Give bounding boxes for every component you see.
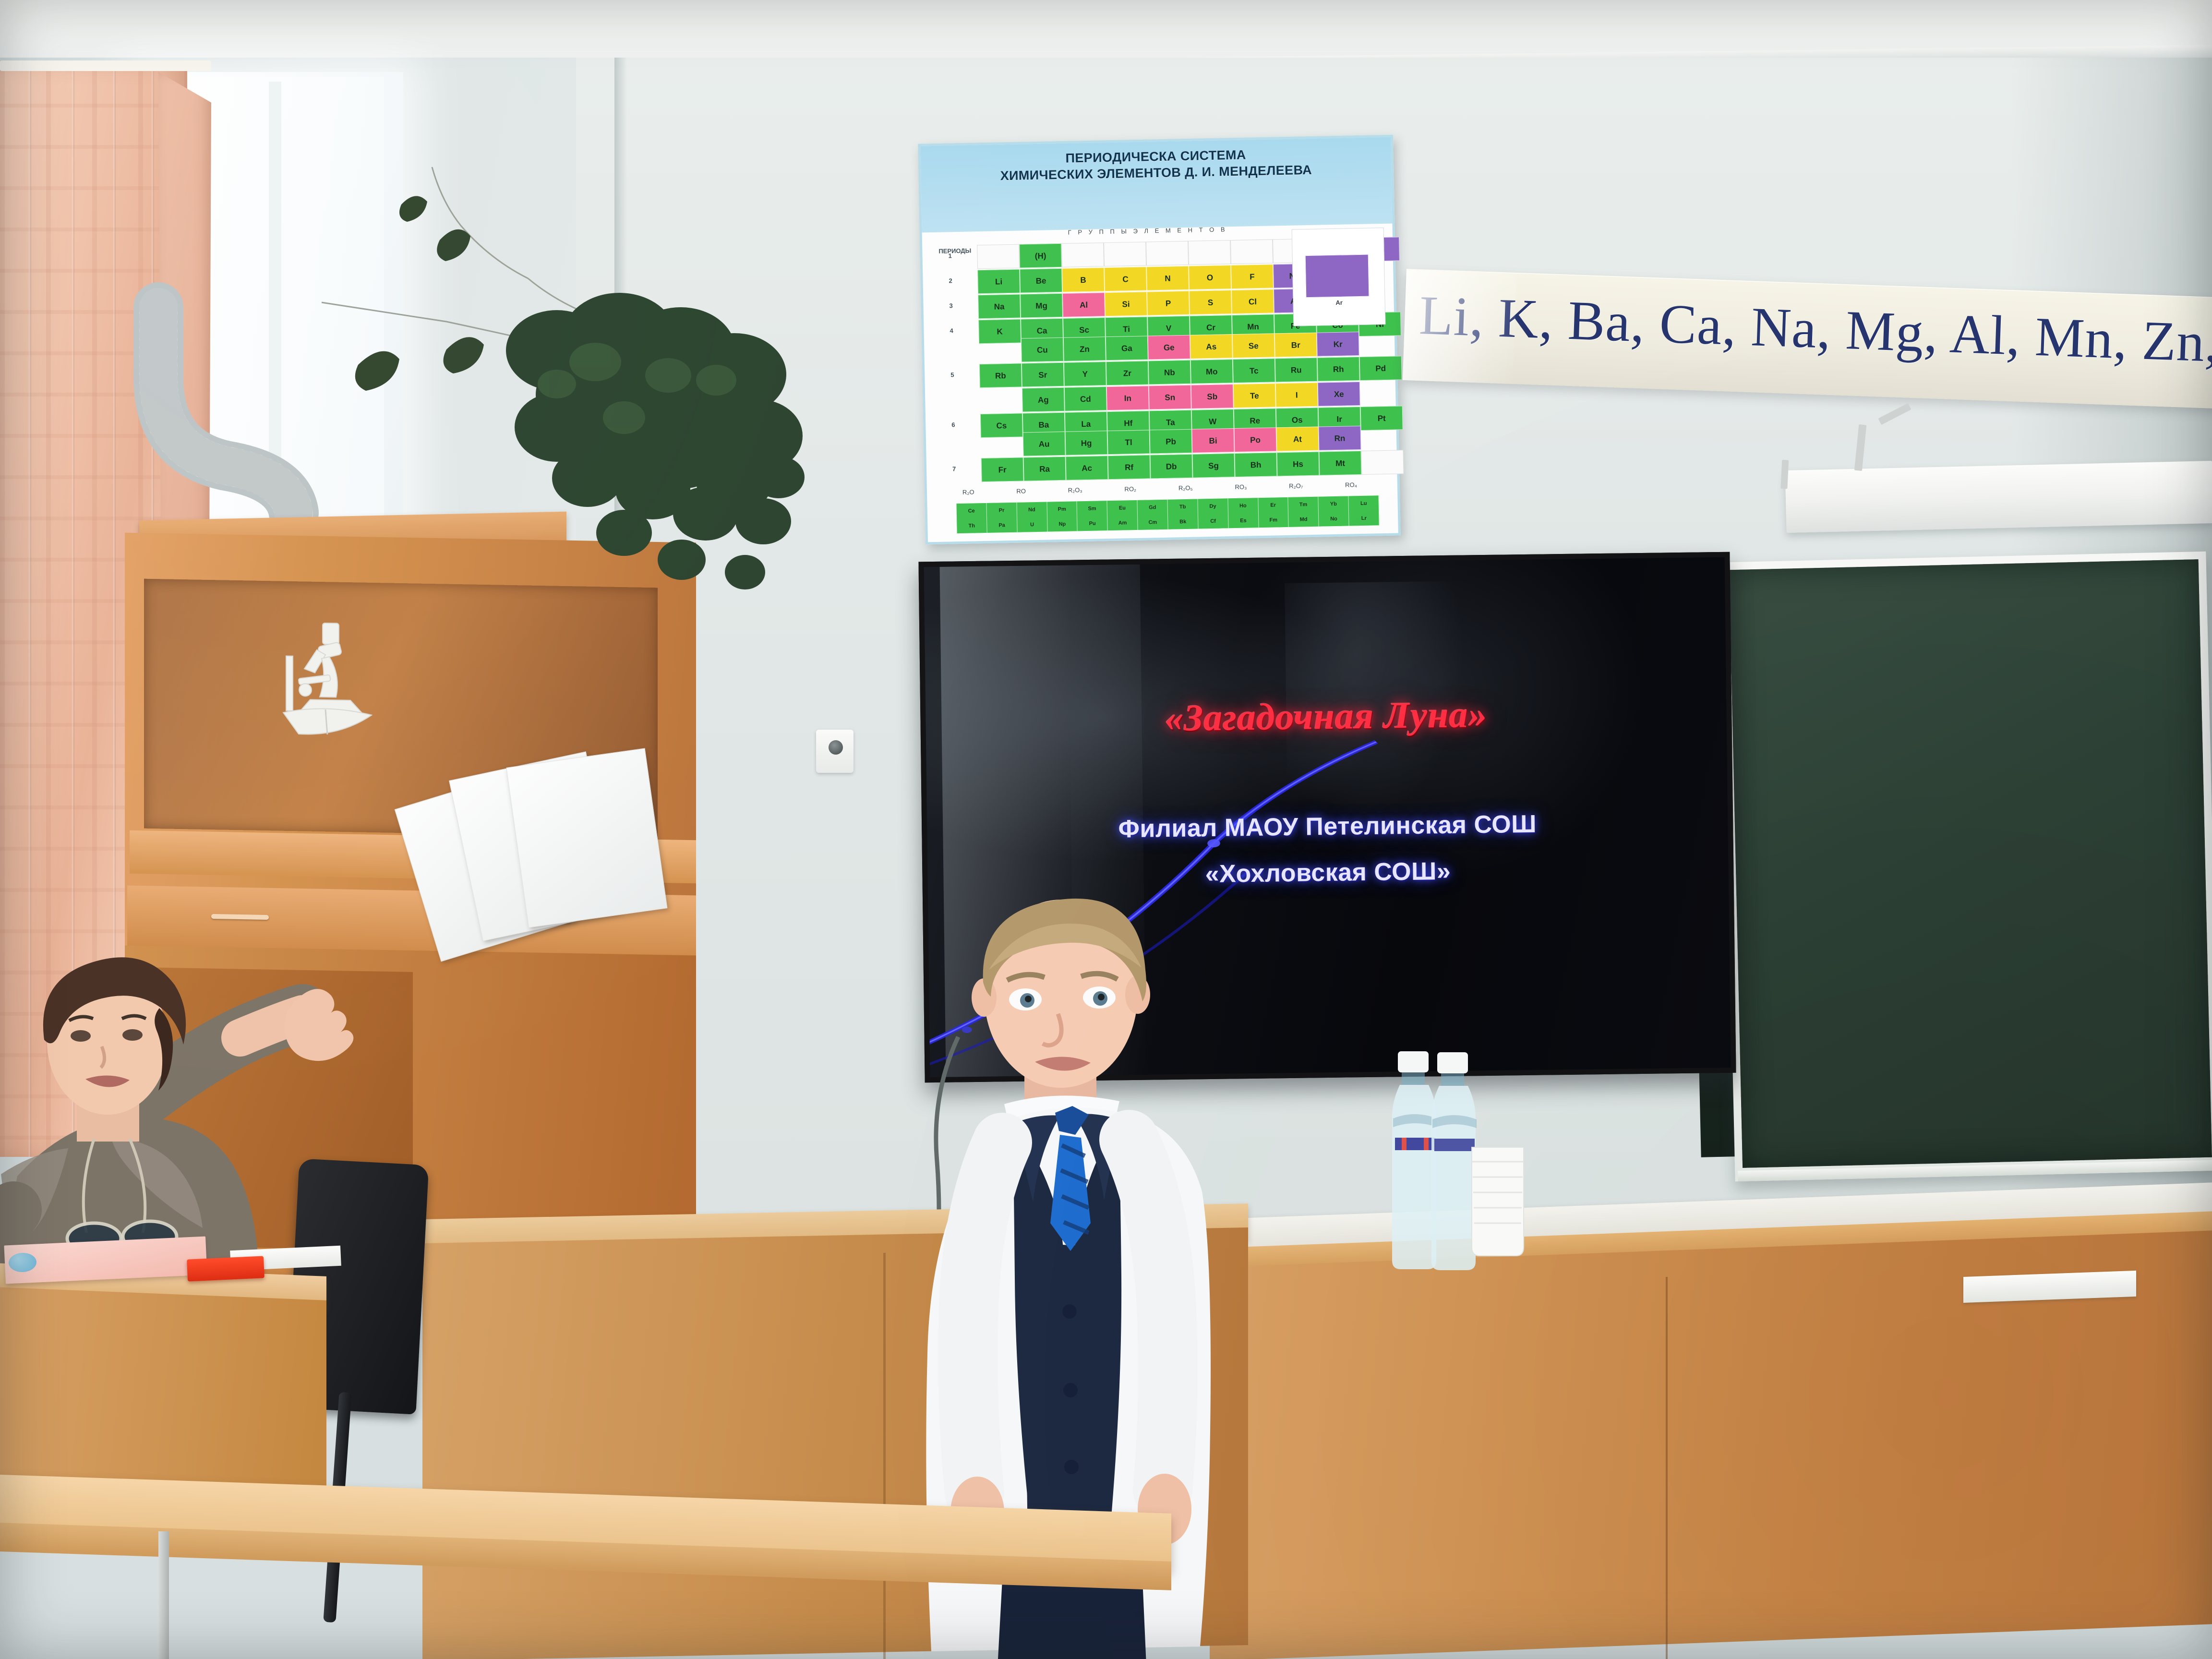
- lanthanide-cell: Tb: [1167, 499, 1198, 515]
- element-cell: [1188, 240, 1231, 265]
- period-number: 6: [951, 421, 955, 428]
- element-cell: Ag: [1022, 387, 1065, 412]
- element-cell: Mo: [1190, 359, 1233, 384]
- element-cell: K: [978, 319, 1021, 344]
- element-cell: Br: [1274, 333, 1317, 358]
- front-desk-leg: [158, 1531, 169, 1659]
- element-cell: Sn: [1149, 385, 1191, 410]
- element-cell: (H): [1019, 243, 1062, 268]
- element-cell: N: [1146, 266, 1189, 291]
- legend-symbol: Ar: [1297, 298, 1381, 307]
- counter-panel-seam: [1666, 1277, 1668, 1659]
- element-cell: S: [1189, 290, 1232, 315]
- poster-legend: Ar: [1292, 228, 1386, 326]
- element-cell: Kr: [1317, 332, 1359, 357]
- element-cell: At: [1276, 427, 1319, 452]
- drawer-handle-left[interactable]: [211, 914, 269, 920]
- actinide-cell: Am: [1107, 515, 1138, 530]
- banner-glare: [1403, 270, 1517, 384]
- element-cell: I: [1275, 383, 1318, 408]
- legend-sample-cell: [1305, 254, 1370, 298]
- roller-bracket-end: [1780, 460, 1789, 489]
- element-cell: Au: [1023, 432, 1066, 457]
- element-cell: Db: [1150, 454, 1193, 479]
- actinide-cell: Cf: [1198, 513, 1228, 529]
- element-cell: [977, 244, 1020, 269]
- element-cell: Hs: [1277, 452, 1320, 477]
- element-cell: [1104, 241, 1146, 266]
- element-cell: In: [1106, 385, 1149, 410]
- element-cell: Rf: [1108, 455, 1151, 480]
- element-cell: Sg: [1192, 453, 1235, 478]
- period-number: 3: [949, 302, 953, 309]
- oxide-formula: R₂O: [962, 488, 974, 495]
- element-cell: [1361, 450, 1404, 475]
- element-cell: B: [1062, 267, 1105, 292]
- lanthanide-cell: Pm: [1047, 501, 1077, 517]
- element-cell: O: [1189, 265, 1231, 290]
- actinide-cell: No: [1319, 511, 1349, 526]
- period-number: 2: [949, 277, 952, 284]
- oxide-formula: R₂O₃: [1068, 486, 1082, 494]
- actinide-cell: Cm: [1138, 515, 1168, 530]
- element-cell: Te: [1233, 383, 1276, 408]
- actinide-cell: U: [1017, 517, 1047, 532]
- element-cell: Rb: [979, 363, 1022, 388]
- element-cell: Pb: [1150, 429, 1192, 454]
- lanthanide-cell: Nd: [1017, 502, 1047, 517]
- actinide-cell: Np: [1047, 516, 1078, 531]
- element-cell: Ac: [1066, 456, 1108, 481]
- element-cell: Po: [1234, 427, 1277, 452]
- element-cell: Mt: [1319, 451, 1362, 476]
- lanthanide-cell: Dy: [1198, 498, 1228, 514]
- periodic-table-poster: ПЕРИОДИЧЕСКА СИСТЕМА ХИМИЧЕСКИХ ЭЛЕМЕНТО…: [918, 135, 1401, 545]
- element-cell: Rh: [1317, 357, 1360, 382]
- lanthanide-cell: Pr: [986, 503, 1017, 518]
- activity-series-text: Li, K, Ba, Ca, Na, Mg, Al, Mn, Zn, Cr, F…: [1418, 284, 2212, 388]
- actinide-cell: Pa: [987, 517, 1017, 533]
- element-cell: Mg: [1020, 293, 1063, 318]
- lanthanide-cell: Ho: [1228, 498, 1258, 513]
- period-number: 7: [952, 465, 956, 472]
- element-cell: Xe: [1318, 382, 1360, 407]
- period-number: 1: [948, 252, 952, 259]
- slide-title: «Загадочная Луна»: [926, 690, 1727, 743]
- pencil-case[interactable]: [187, 1256, 264, 1281]
- classroom-photo: ПЕРИОДИЧЕСКА СИСТЕМА ХИМИЧЕСКИХ ЭЛЕМЕНТО…: [0, 0, 2212, 1659]
- element-cell: Sr: [1022, 362, 1064, 387]
- element-cell: Y: [1064, 361, 1106, 386]
- oxide-formula: R₂O₇: [1289, 482, 1303, 490]
- element-cell: F: [1231, 264, 1274, 289]
- element-cell: Be: [1020, 268, 1062, 293]
- period-number: 5: [950, 371, 954, 378]
- curtain-rod: [0, 60, 211, 71]
- element-cell: Li: [977, 269, 1020, 294]
- actinide-cell: Fm: [1259, 512, 1289, 528]
- element-cell: Si: [1105, 291, 1147, 316]
- element-cell: Pt: [1360, 406, 1403, 431]
- oxide-formula: RO₃: [1235, 483, 1247, 490]
- actinide-cell: Es: [1228, 513, 1259, 528]
- actinide-cell: Pu: [1077, 516, 1107, 531]
- element-cell: Tc: [1233, 358, 1275, 383]
- chalkboard-frame: [1721, 552, 2212, 1182]
- oxide-formula: RO₄: [1345, 481, 1357, 488]
- chalkboard-surface[interactable]: [1729, 559, 2212, 1168]
- lanthanide-cell: Ce: [956, 503, 986, 518]
- element-cell: Ra: [1023, 457, 1066, 481]
- projection-screen-roller[interactable]: [1785, 461, 2212, 533]
- actinide-cell: Lr: [1349, 510, 1379, 526]
- element-cell: Sb: [1191, 384, 1234, 409]
- element-cell: Pd: [1359, 356, 1402, 381]
- lanthanide-cell: Sm: [1077, 501, 1107, 516]
- lanthanide-cell: Gd: [1138, 500, 1168, 515]
- element-cell: Na: [978, 294, 1021, 319]
- element-cell: [1230, 239, 1273, 264]
- actinide-cell: Md: [1288, 512, 1319, 527]
- element-cell: Rn: [1319, 426, 1361, 451]
- period-number: 4: [950, 327, 953, 334]
- element-cell: Zr: [1106, 361, 1149, 385]
- element-cell: C: [1104, 266, 1147, 291]
- element-cell: Se: [1232, 333, 1275, 358]
- element-cell: Fr: [981, 457, 1024, 482]
- element-cell: P: [1147, 291, 1190, 316]
- element-cell: Zn: [1063, 337, 1106, 361]
- oxide-formula: RO₂: [1124, 485, 1136, 492]
- lanthanide-cell: Yb: [1319, 496, 1349, 511]
- oxide-formula: RO: [1016, 487, 1026, 494]
- element-cell: Cs: [980, 413, 1023, 438]
- wall-outlet[interactable]: [816, 730, 854, 773]
- actinide-cell: Th: [957, 518, 987, 533]
- actinide-cell: Bk: [1168, 514, 1198, 529]
- element-cell: [1146, 241, 1189, 266]
- element-cell: [1061, 242, 1104, 267]
- lanthanide-cell: Er: [1258, 497, 1288, 513]
- element-cell: Cl: [1231, 289, 1274, 314]
- microscope-icon: [269, 618, 384, 745]
- element-cell: Bh: [1235, 452, 1277, 477]
- element-cell: Tl: [1107, 430, 1150, 455]
- desk-panel-seam: [883, 1253, 886, 1659]
- element-cell: Ga: [1106, 336, 1148, 361]
- element-cell: As: [1190, 334, 1233, 359]
- lanthanide-cell: Lu: [1349, 495, 1379, 511]
- element-cell: Ge: [1148, 335, 1190, 360]
- element-cell: Cd: [1064, 386, 1107, 411]
- ventilation-duct: [154, 307, 298, 514]
- element-cell: Hg: [1065, 431, 1108, 456]
- element-cell: Bi: [1192, 428, 1235, 453]
- lanthanide-cell: Tm: [1288, 497, 1319, 512]
- element-cell: Ru: [1275, 358, 1318, 383]
- oxide-formula: R₂O₅: [1178, 484, 1193, 492]
- element-cell: Nb: [1148, 360, 1191, 385]
- element-cell: Al: [1062, 292, 1105, 317]
- lanthanide-cell: Eu: [1107, 500, 1138, 516]
- cup-stack[interactable]: [1469, 1147, 1527, 1258]
- ivy-plant: [288, 158, 806, 619]
- element-cell: Cu: [1021, 337, 1064, 362]
